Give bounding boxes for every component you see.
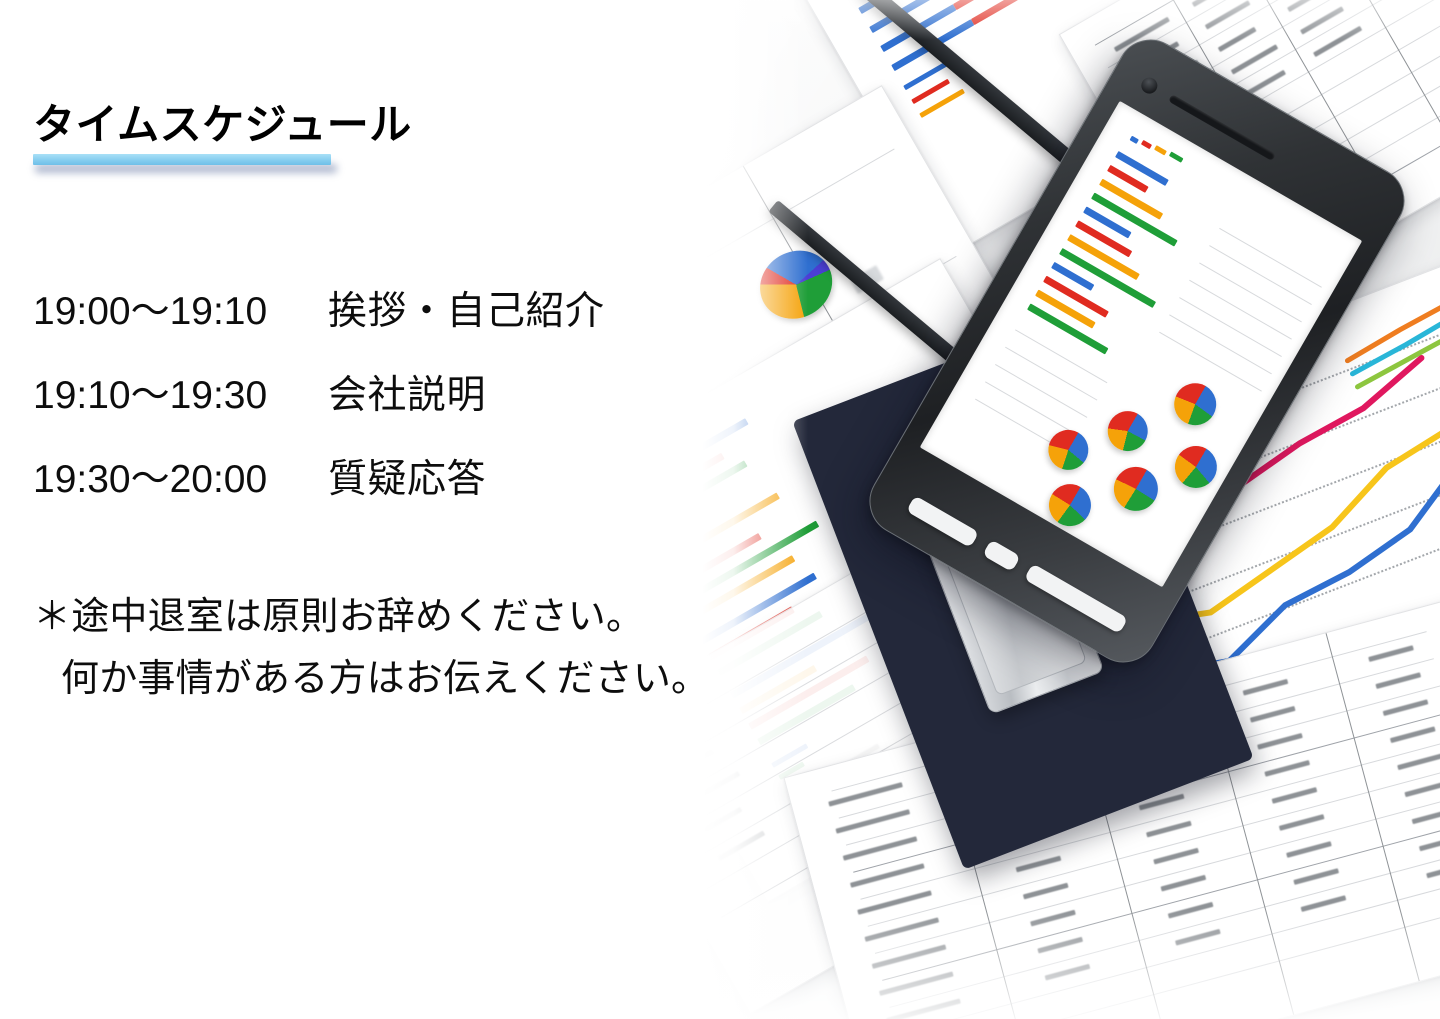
pie-chart [1100, 404, 1155, 459]
schedule-time: 19:10〜19:30 [33, 376, 328, 415]
phone-menu-button [982, 539, 1020, 572]
notes-block: ＊途中退室は原則お辞めください。 何か事情がある方はお伝えください。 [33, 598, 673, 722]
schedule-time: 19:30〜20:00 [33, 460, 328, 499]
schedule-row: 19:30〜20:00 質疑応答 [33, 460, 653, 544]
schedule-label: 質疑応答 [328, 460, 486, 499]
schedule-label: 挨拶・自己紹介 [328, 292, 605, 331]
schedule-list: 19:00〜19:10 挨拶・自己紹介 19:10〜19:30 会社説明 19:… [33, 292, 653, 544]
title-underline [33, 154, 331, 165]
note-line-2: 何か事情がある方はお伝えください。 [33, 660, 673, 722]
title-underline-shadow [35, 164, 337, 173]
pie-chart [1166, 376, 1223, 433]
business-charts-photo: 350 300 250 200 150 100 50 0 Jan Feb Mar… [688, 0, 1440, 1019]
pie-chart [1167, 438, 1224, 495]
schedule-label: 会社説明 [328, 376, 486, 415]
page-title: タイムスケジュール [33, 103, 412, 147]
schedule-row: 19:10〜19:30 会社説明 [33, 376, 653, 460]
schedule-time: 19:00〜19:10 [33, 292, 328, 331]
slide-title-block: タイムスケジュール [33, 103, 373, 175]
phone-home-button [906, 495, 979, 548]
slide-canvas: タイムスケジュール 19:00〜19:10 挨拶・自己紹介 19:10〜19:3… [0, 0, 1440, 1019]
pie-chart [1106, 459, 1166, 519]
schedule-row: 19:00〜19:10 挨拶・自己紹介 [33, 292, 653, 376]
phone-camera-icon [1138, 75, 1160, 97]
pie-chart [1041, 476, 1098, 533]
note-line-1: ＊途中退室は原則お辞めください。 [33, 598, 673, 660]
pie-chart [1041, 423, 1096, 478]
